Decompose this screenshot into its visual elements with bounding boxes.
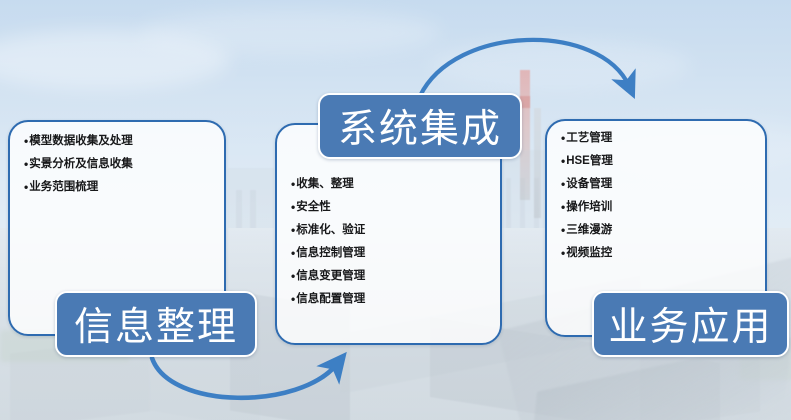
list-item: • 操作培训 xyxy=(561,200,757,214)
bullet-dot-icon: • xyxy=(561,177,565,191)
list-item-label: 标准化、验证 xyxy=(296,223,365,237)
list-item-label: 操作培训 xyxy=(566,200,612,214)
bullet-dot-icon: • xyxy=(561,200,565,214)
stage-label-business-application[interactable]: 业务应用 xyxy=(592,291,789,357)
list-item: • 标准化、验证 xyxy=(291,223,492,237)
bullet-dot-icon: • xyxy=(561,154,565,168)
list-item-label: 业务范围梳理 xyxy=(29,180,98,194)
list-item-label: 信息控制管理 xyxy=(296,246,365,260)
bullet-dot-icon: • xyxy=(291,292,295,306)
stage-label-system-integration[interactable]: 系统集成 xyxy=(318,93,522,159)
list-item: • 安全性 xyxy=(291,200,492,214)
list-item: • 三维漫游 xyxy=(561,223,757,237)
bullet-dot-icon: • xyxy=(561,246,565,260)
stage-item-list: • 收集、整理 • 安全性 • 标准化、验证 • 信息控制管理 • 信息变更管理… xyxy=(291,177,492,315)
list-item-label: 视频监控 xyxy=(566,246,612,260)
list-item: • 模型数据收集及处理 xyxy=(24,134,216,148)
arrow-left-to-center xyxy=(152,358,337,398)
list-item-label: 三维漫游 xyxy=(566,223,612,237)
stage-item-list: • 工艺管理 • HSE管理 • 设备管理 • 操作培训 • 三维漫游 • 视频… xyxy=(561,131,757,269)
bullet-dot-icon: • xyxy=(291,177,295,191)
list-item: • 视频监控 xyxy=(561,246,757,260)
list-item-label: 实景分析及信息收集 xyxy=(29,157,133,171)
stage-label-information-organization[interactable]: 信息整理 xyxy=(55,291,257,357)
bullet-dot-icon: • xyxy=(24,180,28,194)
bullet-dot-icon: • xyxy=(291,269,295,283)
list-item: • 设备管理 xyxy=(561,177,757,191)
bullet-dot-icon: • xyxy=(24,134,28,148)
list-item: • 实景分析及信息收集 xyxy=(24,157,216,171)
list-item: • 工艺管理 xyxy=(561,131,757,145)
bullet-dot-icon: • xyxy=(291,200,295,214)
bullet-dot-icon: • xyxy=(291,246,295,260)
list-item-label: 工艺管理 xyxy=(566,131,612,145)
bullet-dot-icon: • xyxy=(561,223,565,237)
list-item: • 业务范围梳理 xyxy=(24,180,216,194)
list-item-label: 信息变更管理 xyxy=(296,269,365,283)
list-item: • 信息配置管理 xyxy=(291,292,492,306)
stage-item-list: • 模型数据收集及处理 • 实景分析及信息收集 • 业务范围梳理 xyxy=(24,134,216,203)
list-item-label: HSE管理 xyxy=(566,154,613,168)
list-item-label: 收集、整理 xyxy=(296,177,354,191)
list-item-label: 安全性 xyxy=(296,200,331,214)
list-item: • HSE管理 xyxy=(561,154,757,168)
arrow-center-to-right xyxy=(420,40,629,96)
bullet-dot-icon: • xyxy=(24,157,28,171)
bullet-dot-icon: • xyxy=(291,223,295,237)
diagram-canvas: • 模型数据收集及处理 • 实景分析及信息收集 • 业务范围梳理 • 收集、整理… xyxy=(0,0,791,420)
list-item: • 收集、整理 xyxy=(291,177,492,191)
list-item: • 信息变更管理 xyxy=(291,269,492,283)
list-item-label: 信息配置管理 xyxy=(296,292,365,306)
list-item-label: 模型数据收集及处理 xyxy=(29,134,133,148)
bullet-dot-icon: • xyxy=(561,131,565,145)
list-item: • 信息控制管理 xyxy=(291,246,492,260)
list-item-label: 设备管理 xyxy=(566,177,612,191)
